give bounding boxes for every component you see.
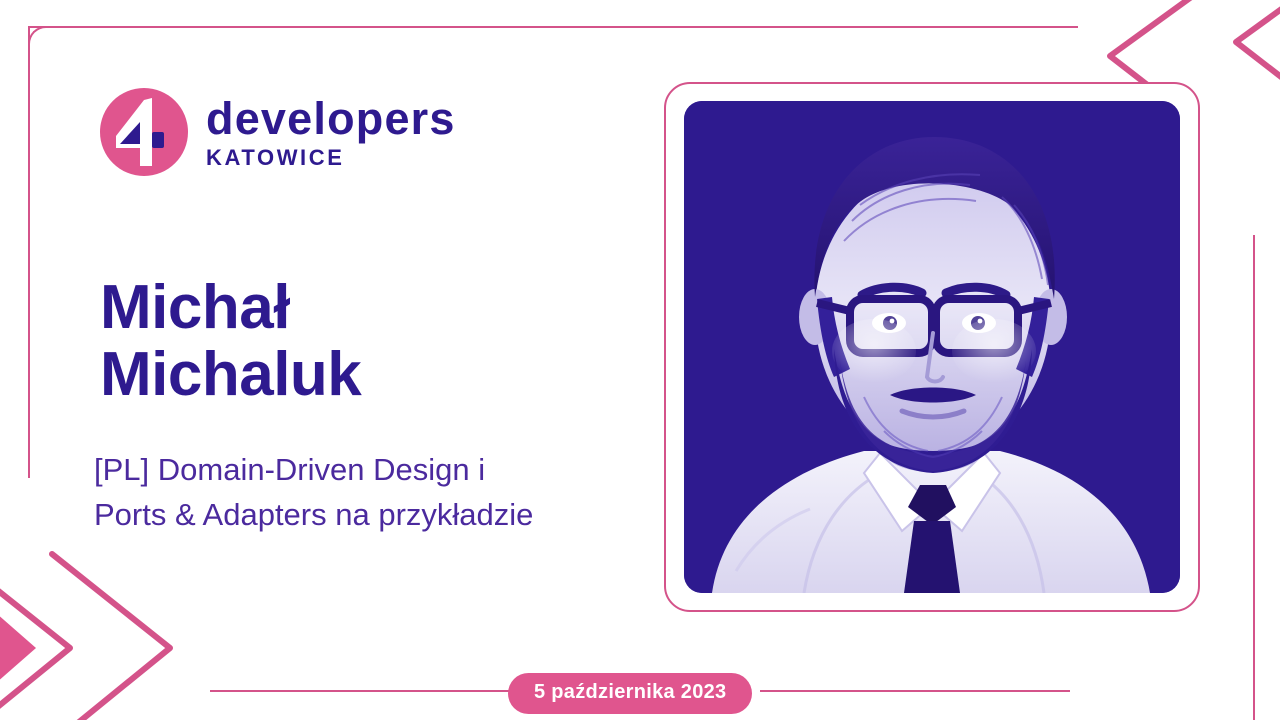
brand-logo: developers KATOWICE <box>100 88 456 176</box>
speaker-slide: developers KATOWICE Michał Michaluk [PL]… <box>0 0 1280 720</box>
talk-title-line-1: [PL] Domain-Driven Design i <box>94 448 674 493</box>
frame-line-left <box>28 26 30 478</box>
frame-corner-top-left <box>28 26 64 62</box>
event-date-badge: 5 października 2023 <box>508 673 752 714</box>
frame-line-right <box>1253 235 1255 720</box>
speaker-last-name: Michaluk <box>100 342 640 409</box>
date-divider-left <box>210 690 520 692</box>
frame-line-top <box>28 26 1078 28</box>
chevron-left-filled-icon <box>1216 0 1280 120</box>
talk-title-line-2: Ports & Adapters na przykładzie <box>94 493 674 538</box>
logo-wordmark: developers <box>206 96 456 141</box>
speaker-first-name: Michał <box>100 275 640 342</box>
logo-city-label: KATOWICE <box>206 147 456 169</box>
talk-title: [PL] Domain-Driven Design i Ports & Adap… <box>94 448 674 538</box>
date-divider-right <box>760 690 1070 692</box>
chevron-right-outline-icon-2 <box>36 544 226 720</box>
speaker-name: Michał Michaluk <box>100 275 640 409</box>
4developers-logo-mark-icon <box>100 88 188 176</box>
speaker-photo <box>684 101 1180 593</box>
